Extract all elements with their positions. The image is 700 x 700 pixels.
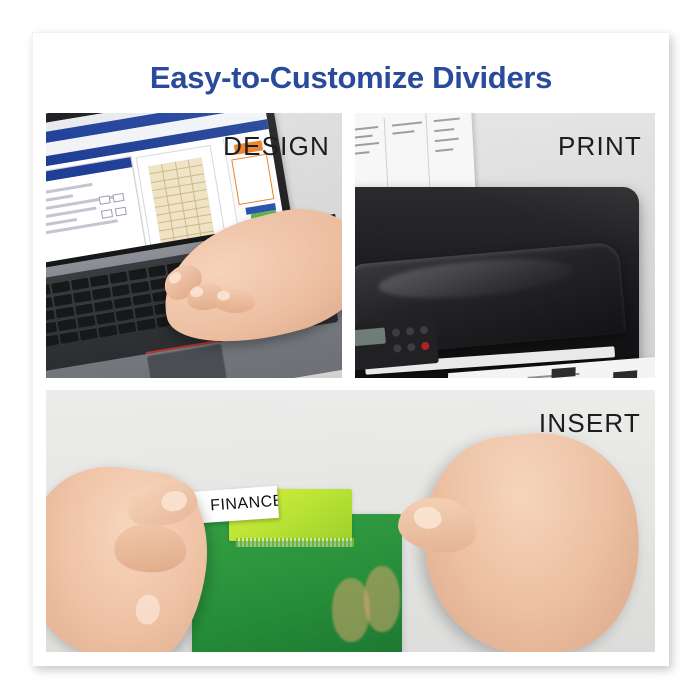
hand-right-holding-divider bbox=[414, 423, 650, 652]
product-card: Easy-to-Customize Dividers bbox=[32, 32, 669, 666]
printer-power-button bbox=[421, 342, 430, 351]
divider-grid bbox=[148, 157, 215, 247]
finger bbox=[215, 288, 256, 313]
divider-tab-perforation bbox=[236, 538, 354, 547]
divider-tab-printed bbox=[551, 367, 575, 378]
printer-button bbox=[392, 328, 401, 337]
panel-design: DESIGN bbox=[46, 113, 342, 378]
printer-button bbox=[406, 327, 415, 336]
index-finger bbox=[114, 523, 188, 573]
printer-control-panel bbox=[355, 317, 439, 371]
dialog-input-3 bbox=[101, 209, 113, 219]
panel-print: PRINT bbox=[355, 113, 655, 378]
printer-lcd-display bbox=[355, 328, 386, 347]
fingernail bbox=[134, 593, 162, 626]
dialog-input-2 bbox=[112, 193, 124, 203]
dialog-input-1 bbox=[99, 195, 111, 205]
divider-tab-printed bbox=[613, 370, 637, 378]
finger-behind-divider bbox=[364, 566, 400, 632]
printer-button bbox=[407, 343, 416, 352]
panel-label-design: DESIGN bbox=[223, 131, 330, 162]
printer-body bbox=[355, 187, 639, 378]
page-title: Easy-to-Customize Dividers bbox=[33, 60, 669, 96]
product-image: Easy-to-Customize Dividers bbox=[0, 0, 700, 700]
lid-highlight bbox=[377, 253, 574, 305]
printer-button bbox=[393, 344, 402, 353]
panel-label-insert: INSERT bbox=[539, 408, 641, 439]
printer-button bbox=[420, 326, 429, 335]
panel-label-print: PRINT bbox=[558, 131, 642, 162]
label-insert-text: FINANCE bbox=[210, 492, 279, 515]
panel-insert: FINANCE INSERT bbox=[46, 390, 655, 652]
dialog-input-4 bbox=[115, 207, 127, 217]
